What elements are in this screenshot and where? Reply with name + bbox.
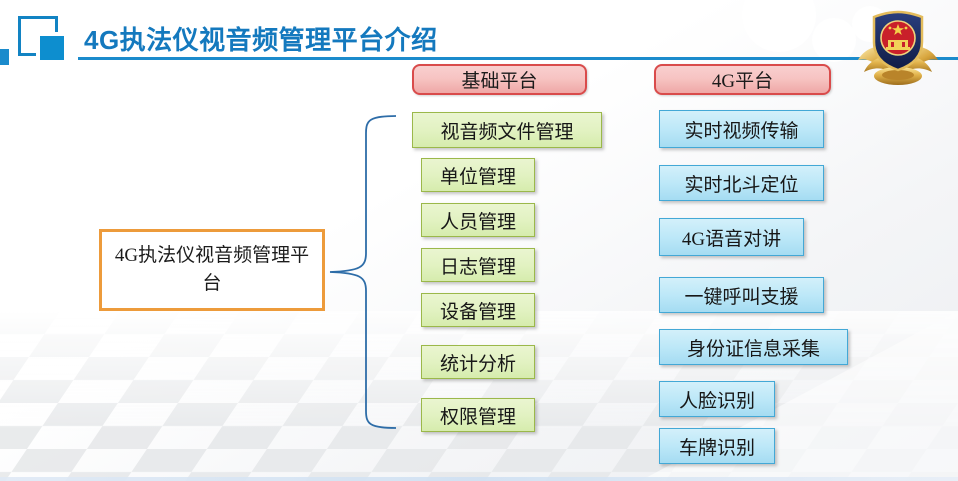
node-label: 实时视频传输 xyxy=(684,116,798,143)
background-bubble xyxy=(812,18,856,62)
curly-brace-connector xyxy=(326,113,398,431)
column-header-label: 基础平台 xyxy=(461,66,537,93)
background-bottom-line xyxy=(0,477,958,481)
node-base-2[interactable]: 人员管理 xyxy=(421,203,535,237)
node-4g-0[interactable]: 实时视频传输 xyxy=(659,110,824,148)
police-badge-emblem xyxy=(852,2,944,88)
node-label: 设备管理 xyxy=(440,297,516,324)
node-label: 车牌识别 xyxy=(679,433,755,460)
node-base-4[interactable]: 设备管理 xyxy=(421,293,535,327)
node-label: 人员管理 xyxy=(440,207,516,234)
node-4g-4[interactable]: 身份证信息采集 xyxy=(659,329,848,365)
node-label: 人脸识别 xyxy=(679,386,755,413)
title-underline xyxy=(78,57,958,60)
column-header-4g-platform[interactable]: 4G平台 xyxy=(654,64,831,95)
node-label: 身份证信息采集 xyxy=(687,334,820,361)
node-label: 权限管理 xyxy=(440,402,516,429)
node-base-3[interactable]: 日志管理 xyxy=(421,248,535,282)
root-node[interactable]: 4G执法仪视音频管理平台 xyxy=(99,229,325,311)
node-4g-3[interactable]: 一键呼叫支援 xyxy=(659,277,824,313)
node-base-0[interactable]: 视音频文件管理 xyxy=(412,112,602,148)
page-title: 4G执法仪视音频管理平台介绍 xyxy=(84,20,438,57)
node-label: 单位管理 xyxy=(440,162,516,189)
node-4g-2[interactable]: 4G语音对讲 xyxy=(659,218,804,256)
title-rule-cap xyxy=(0,49,9,65)
node-base-1[interactable]: 单位管理 xyxy=(421,158,535,192)
node-4g-5[interactable]: 人脸识别 xyxy=(659,381,775,417)
node-4g-1[interactable]: 实时北斗定位 xyxy=(659,165,824,201)
square-filled-icon xyxy=(36,32,68,64)
node-label: 4G语音对讲 xyxy=(682,224,781,251)
node-label: 日志管理 xyxy=(440,252,516,279)
node-label: 一键呼叫支援 xyxy=(684,282,798,309)
node-4g-6[interactable]: 车牌识别 xyxy=(659,428,775,464)
node-label: 统计分析 xyxy=(440,349,516,376)
node-base-5[interactable]: 统计分析 xyxy=(421,345,535,379)
column-header-base-platform[interactable]: 基础平台 xyxy=(412,64,587,95)
node-label: 视音频文件管理 xyxy=(440,117,573,144)
node-label: 实时北斗定位 xyxy=(684,170,798,197)
background-bubble xyxy=(742,0,816,52)
slide-canvas: 4G执法仪视音频管理平台介绍 xyxy=(0,0,958,481)
column-header-label: 4G平台 xyxy=(712,66,773,93)
root-node-label: 4G执法仪视音频管理平台 xyxy=(102,242,322,298)
node-base-6[interactable]: 权限管理 xyxy=(421,398,535,432)
